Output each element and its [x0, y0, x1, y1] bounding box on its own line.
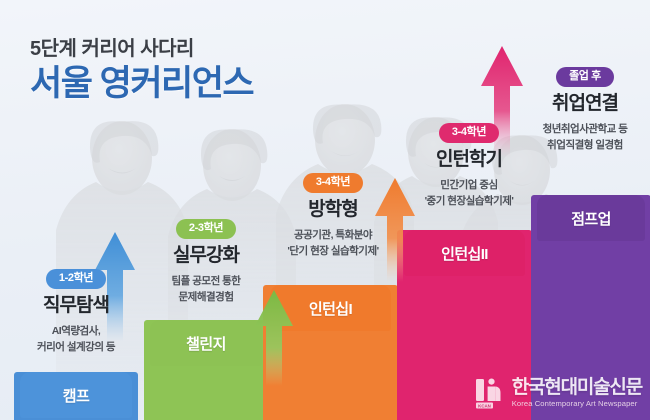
step-badge-3: 3-4학년	[303, 173, 363, 193]
step-info-1: 1-2학년 직무탐색 AI역량검사, 커리어 설계강의 등	[6, 268, 146, 355]
block-cap-1: 캠프	[20, 372, 132, 418]
watermark-korean: 한국현대미술신문	[512, 378, 642, 397]
kcan-mark-label: KCAN	[478, 403, 491, 408]
step-badge-4: 3-4학년	[439, 123, 499, 143]
step-badge-5: 졸업 후	[556, 67, 614, 87]
step-info-5: 졸업 후 취업연결 청년취업사관학교 등 취업직결형 일경험	[520, 66, 650, 153]
kcan-logo-icon: KCAN	[475, 376, 505, 410]
headline-title: 서울 영커리언스	[30, 64, 253, 103]
block-label-1: 캠프	[63, 385, 89, 406]
block-cap-4: 인턴십II	[404, 230, 526, 276]
step-desc-3-line1: 공공기관, 특화분야	[252, 228, 414, 243]
step-desc-2-line2: 문제해결경험	[133, 290, 279, 305]
block-label-2: 챌린지	[186, 333, 226, 354]
step-title-1: 직무탐색	[6, 296, 146, 317]
watermark-text: 한국현대미술신문 Korea Contemporary Art Newspape…	[512, 378, 642, 408]
step-desc-4-line2: '중기 현장실습학기제'	[386, 194, 552, 209]
block-label-4: 인턴십II	[441, 243, 488, 264]
step-desc-2-line1: 팀플 공모전 통한	[133, 274, 279, 289]
step-badge-2: 2-3학년	[176, 219, 236, 239]
block-label-5: 점프업	[571, 208, 611, 229]
headline-subtitle: 5단계 커리어 사다리	[30, 38, 253, 60]
block-step-1[interactable]: 캠프	[14, 372, 138, 420]
step-desc-3-line2: '단기 현장 실습학기제'	[252, 244, 414, 259]
headline-block: 5단계 커리어 사다리 서울 영커리언스	[30, 38, 253, 103]
watermark-logo: KCAN 한국현대미술신문 Korea Contemporary Art New…	[475, 376, 642, 410]
infographic-canvas: 5단계 커리어 사다리 서울 영커리언스 캠프 챌린지 인턴십I 인턴십II	[0, 0, 650, 420]
step-desc-1-line2: 커리어 설계강의 등	[6, 340, 146, 355]
block-cap-5: 점프업	[537, 195, 645, 241]
step-desc-4-line1: 민간기업 중심	[386, 178, 552, 193]
step-desc-5-line1: 청년취업사관학교 등	[520, 122, 650, 137]
step-desc-5-line2: 취업직결형 일경험	[520, 138, 650, 153]
block-cap-2: 챌린지	[150, 320, 262, 366]
step-badge-1: 1-2학년	[46, 269, 106, 289]
step-title-5: 취업연결	[520, 94, 650, 115]
block-label-3: 인턴십I	[309, 298, 352, 319]
step-desc-1-line1: AI역량검사,	[6, 324, 146, 339]
watermark-english: Korea Contemporary Art Newspaper	[512, 400, 642, 408]
block-step-2[interactable]: 챌린지	[144, 320, 268, 420]
